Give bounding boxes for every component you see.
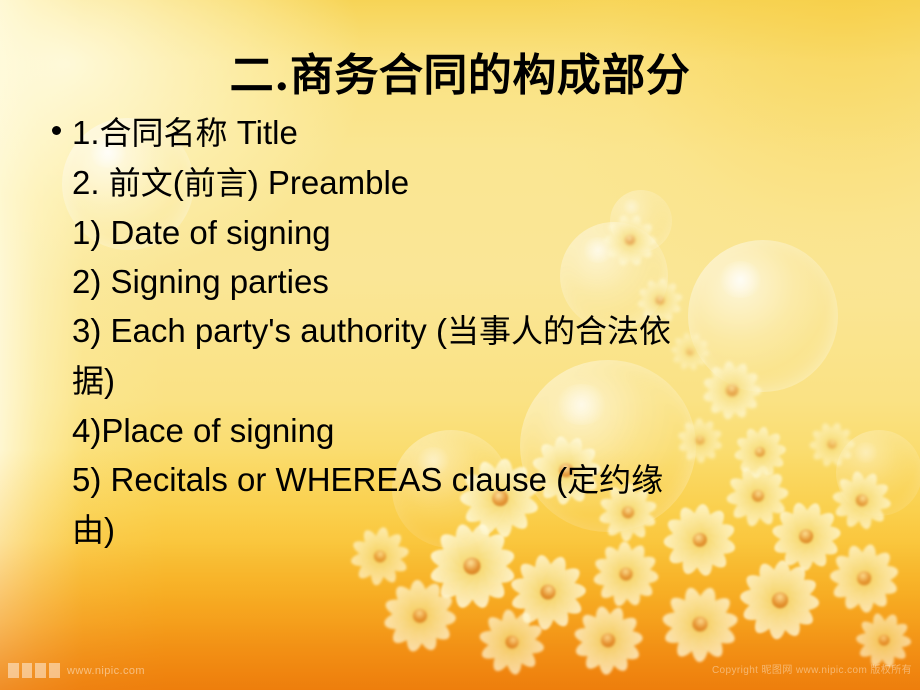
cjk-text-run: 前文 <box>109 164 173 202</box>
latin-text-run: 2) Signing parties <box>72 263 329 300</box>
list-item: 1) Date of signing <box>72 208 874 257</box>
latin-text-run: 1. <box>72 114 100 151</box>
cjk-text-run: 据 <box>72 362 104 400</box>
bullet-list: 1.合同名称 Title2. 前文(前言) Preamble1) Date of… <box>44 108 874 555</box>
latin-text-run: ( <box>173 164 184 201</box>
latin-text-run: Title <box>228 114 298 151</box>
list-item: 据) <box>72 356 874 406</box>
latin-text-run: 4)Place of signing <box>72 412 334 449</box>
latin-text-run: 3) Each party's authority ( <box>72 312 447 349</box>
cjk-text-run: 定约缘 <box>567 461 663 499</box>
list-item: 2) Signing parties <box>72 257 874 306</box>
cjk-text-run: 前言 <box>184 164 248 202</box>
presentation-slide: 二.商务合同的构成部分 1.合同名称 Title2. 前文(前言) Preamb… <box>0 0 920 690</box>
latin-text-run: 2. <box>72 164 109 201</box>
page-title: 二.商务合同的构成部分 <box>0 49 920 103</box>
list-item: 5) Recitals or WHEREAS clause (定约缘 <box>72 455 874 505</box>
watermark-bottom-left-text: www.nipic.com <box>67 665 145 677</box>
bullet-point-icon <box>52 126 61 135</box>
list-item: 由) <box>72 505 874 555</box>
nipic-logo-icon <box>8 663 60 678</box>
bullet-list-text: 1.合同名称 Title2. 前文(前言) Preamble1) Date of… <box>72 108 874 555</box>
watermark-bottom-right: Copyright 昵图网 www.nipic.com 版权所有 <box>712 661 912 676</box>
watermark-bottom-left: www.nipic.com <box>8 663 145 678</box>
cjk-text-run: 合同名称 <box>100 114 228 152</box>
list-item: 4)Place of signing <box>72 406 874 455</box>
latin-text-run: 1) Date of signing <box>72 214 331 251</box>
cjk-text-run: 当事人的合法依 <box>447 312 671 350</box>
latin-text-run: 5) Recitals or WHEREAS clause ( <box>72 461 567 498</box>
list-item: 2. 前文(前言) Preamble <box>72 158 874 208</box>
cjk-text-run: 由 <box>72 511 104 549</box>
latin-text-run: ) <box>104 511 115 548</box>
list-item: 3) Each party's authority (当事人的合法依 <box>72 306 874 356</box>
list-item: 1.合同名称 Title <box>72 108 874 158</box>
latin-text-run: ) Preamble <box>248 164 409 201</box>
latin-text-run: ) <box>104 362 115 399</box>
